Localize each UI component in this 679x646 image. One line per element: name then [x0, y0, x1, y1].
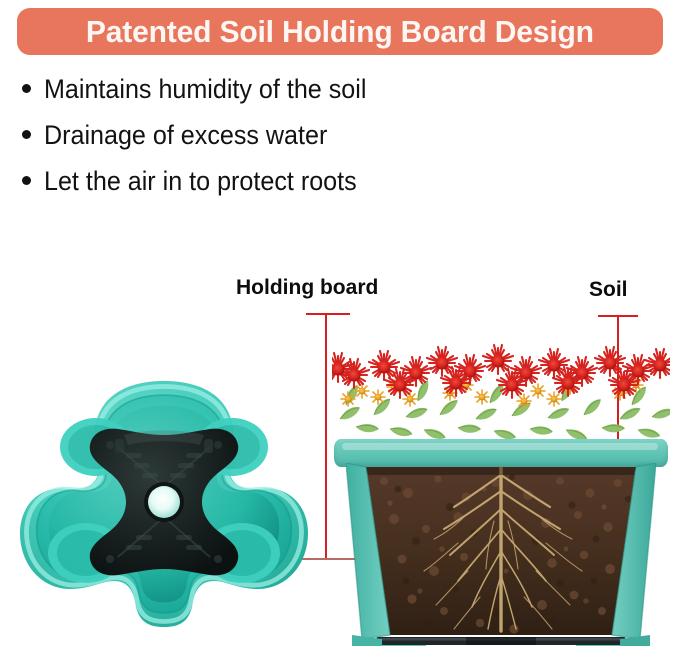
bullet-dot-icon — [22, 130, 31, 139]
feature-text: Drainage of excess water — [44, 120, 327, 151]
feature-text: Let the air in to protect roots — [44, 166, 357, 197]
leader-line-holding-board-bar — [306, 313, 350, 315]
planter-top-view-image — [14, 375, 314, 630]
water-reservoir — [346, 635, 656, 646]
bullet-dot-icon — [22, 84, 31, 93]
planter-cross-section-image — [332, 335, 670, 600]
list-item: Let the air in to protect roots — [22, 166, 642, 212]
page-title: Patented Soil Holding Board Design — [86, 14, 594, 50]
planter-body — [346, 463, 656, 646]
planter-rim-highlight — [342, 443, 658, 450]
list-item: Maintains humidity of the soil — [22, 74, 642, 120]
feature-text: Maintains humidity of the soil — [44, 74, 366, 105]
feature-list: Maintains humidity of the soil Drainage … — [22, 74, 642, 212]
callout-label-holding-board: Holding board — [236, 276, 378, 300]
list-item: Drainage of excess water — [22, 120, 642, 166]
callout-label-soil: Soil — [589, 278, 628, 302]
infographic-page: Patented Soil Holding Board Design Maint… — [0, 0, 679, 646]
drain-hole — [148, 486, 180, 518]
header-banner: Patented Soil Holding Board Design — [17, 8, 663, 55]
leader-line-holding-board-stem — [325, 313, 327, 559]
flower-bed — [332, 335, 670, 447]
bullet-dot-icon — [22, 176, 31, 185]
